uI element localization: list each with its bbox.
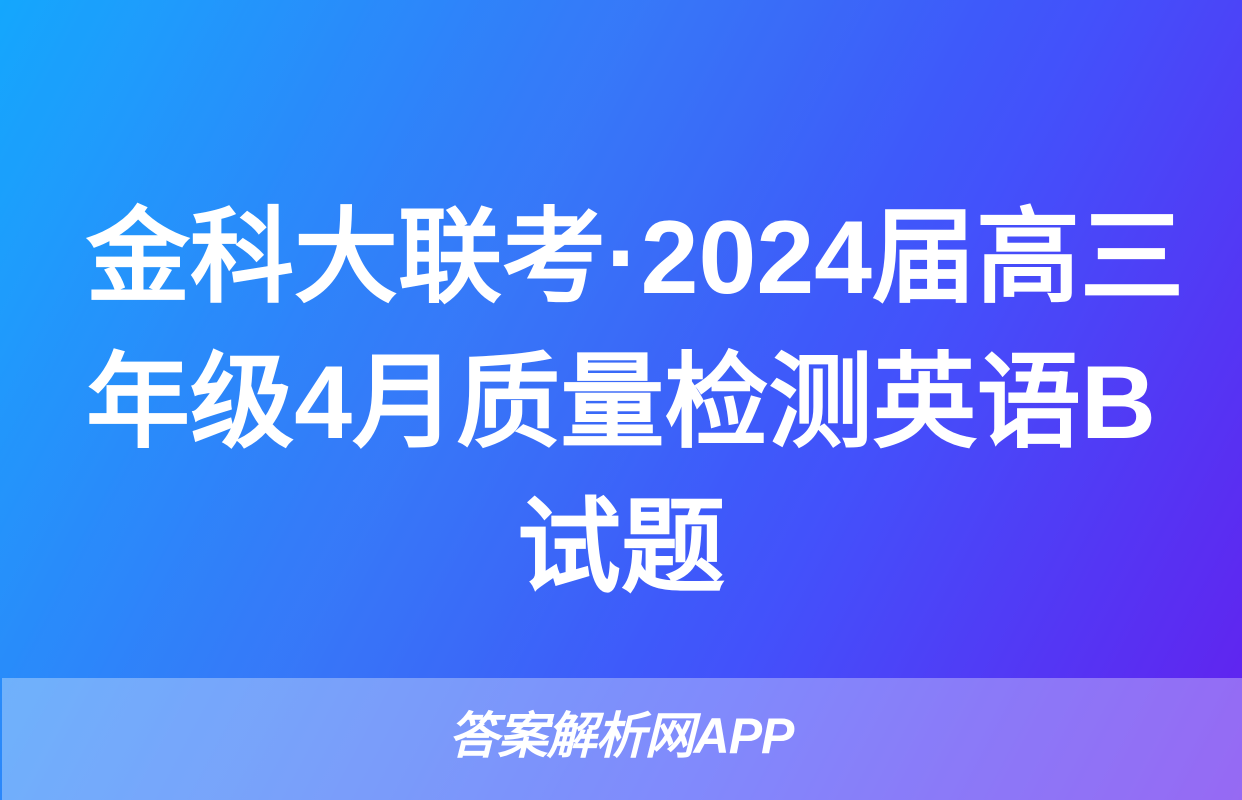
page-title: 金科大联考·2024届高三 年级4月质量检测英语B 试题 (86, 186, 1156, 621)
app-watermark: 答案解析网APP (0, 708, 1242, 764)
exam-cover-card: 金科大联考·2024届高三 年级4月质量检测英语B 试题 答案解析网APP (0, 0, 1242, 800)
title-line-3: 试题 (86, 476, 1156, 621)
title-line-2: 年级4月质量检测英语B (86, 331, 1156, 476)
title-line-1: 金科大联考·2024届高三 (86, 186, 1156, 331)
